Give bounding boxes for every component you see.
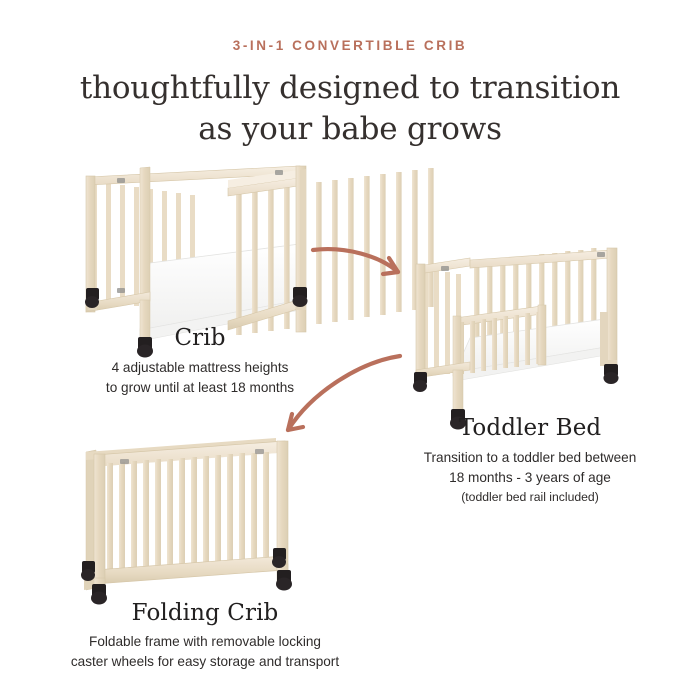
crib-title: Crib: [40, 325, 360, 351]
toddler-bed-illustration: [413, 248, 619, 430]
toddler-right-post: [607, 248, 617, 366]
toddler-front-leg: [453, 370, 463, 414]
crib-description: 4 adjustable mattress heights to grow un…: [40, 358, 360, 398]
toddler-bed-description: Transition to a toddler bed between 18 m…: [375, 448, 685, 507]
crib-description-line-2: to grow until at least 18 months: [40, 378, 360, 398]
toddler-bed-description-line-2: 18 months - 3 years of age: [375, 468, 685, 488]
toddler-bed-description-line-1: Transition to a toddler bed between: [375, 448, 685, 468]
folding-crib-illustration: [81, 438, 292, 605]
folding-crib-description-line-2: caster wheels for easy storage and trans…: [10, 652, 400, 672]
infographic-canvas: 3-IN-1 CONVERTIBLE CRIB thoughtfully des…: [0, 0, 700, 700]
toddler-bed-title: Toddler Bed: [380, 415, 680, 441]
folding-crib-description: Foldable frame with removable locking ca…: [10, 632, 400, 672]
folding-crib-description-line-1: Foldable frame with removable locking: [10, 632, 400, 652]
toddler-bed-note: (toddler bed rail included): [375, 488, 685, 507]
folding-crib-left-post: [94, 454, 105, 584]
folding-crib-title: Folding Crib: [20, 600, 390, 626]
crib-description-line-1: 4 adjustable mattress heights: [40, 358, 360, 378]
